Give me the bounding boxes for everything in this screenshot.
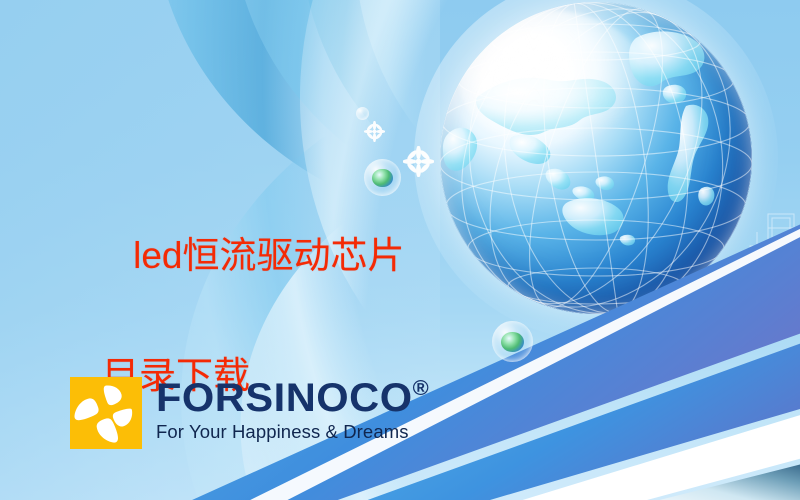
promo-banner: led恒流驱动芯片 目录下载 FORSINOCO® For Your Happi… [0,0,800,500]
headline-line-1: led恒流驱动芯片 [133,235,404,276]
logo-tagline: For Your Happiness & Dreams [156,421,419,442]
logo-wordmark-text: FORSINOCO [156,376,413,420]
bubble-small-top [356,107,369,120]
headline: led恒流驱动芯片 目录下载 [92,166,405,500]
registered-trademark-symbol: ® [413,377,430,400]
sparkle-small-icon [364,121,385,142]
forsinoco-pinwheel-mark [70,377,142,449]
pinwheel-icon [70,377,142,449]
sparkle-large-icon [403,146,434,177]
bubble-globe-lower [492,321,533,362]
brand-logo[interactable]: FORSINOCO® For Your Happiness & Dreams [70,377,419,449]
logo-wordmark: FORSINOCO® [156,379,429,418]
logo-text-block: FORSINOCO® For Your Happiness & Dreams [156,377,419,442]
mini-globe-icon [501,332,524,353]
